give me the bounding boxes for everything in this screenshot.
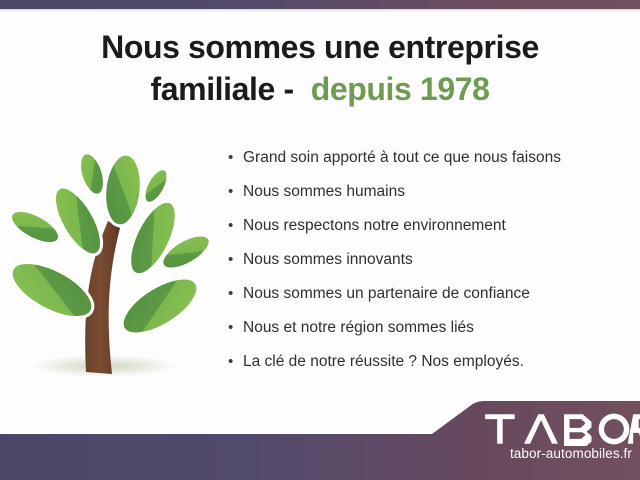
- leaf: [8, 251, 101, 329]
- list-item-label: Nous sommes innovants: [243, 252, 413, 268]
- tree-illustration: [8, 142, 213, 387]
- bullet-icon: •: [228, 286, 243, 301]
- brand-url[interactable]: tabor-automobiles.fr: [484, 447, 634, 461]
- heading-dash-glyph: -: [283, 71, 293, 107]
- bullet-icon: •: [228, 150, 243, 165]
- bullet-icon: •: [228, 218, 243, 233]
- list-item: • Nous sommes humains: [228, 184, 628, 218]
- tabor-wordmark: [484, 412, 640, 446]
- list-item-label: Grand soin apporté à tout ce que nous fa…: [243, 150, 561, 166]
- list-item: • Nous sommes un partenaire de confiance: [228, 286, 628, 320]
- heading-line-1: Nous sommes une entreprise: [0, 26, 640, 68]
- list-item-label: Nous et notre région sommes liés: [243, 320, 474, 336]
- list-item-label: Nous sommes un partenaire de confiance: [243, 286, 530, 302]
- leaf: [101, 152, 144, 227]
- brand-logo[interactable]: tabor-automobiles.fr: [484, 412, 634, 461]
- top-accent-bar-shadow: [0, 9, 640, 12]
- bullet-icon: •: [228, 184, 243, 199]
- heading-highlight: depuis 1978: [311, 71, 490, 107]
- heading-prefix: familiale: [150, 71, 274, 107]
- slide-canvas: Nous sommes une entreprise familiale - d…: [0, 0, 640, 480]
- slide-heading: Nous sommes une entreprise familiale - d…: [0, 26, 640, 110]
- bullet-icon: •: [228, 320, 243, 335]
- top-accent-bar: [0, 0, 640, 9]
- heading-gap: [294, 71, 311, 107]
- list-item: • Nous et notre région sommes liés: [228, 320, 628, 354]
- list-item: • Nous sommes innovants: [228, 252, 628, 286]
- list-item-label: Nous respectons notre environnement: [243, 218, 506, 234]
- list-item: • Grand soin apporté à tout ce que nous …: [228, 150, 628, 184]
- list-item-label: Nous sommes humains: [243, 184, 405, 200]
- bullet-list: • Grand soin apporté à tout ce que nous …: [228, 150, 628, 388]
- leaf: [113, 267, 206, 345]
- bullet-icon: •: [228, 354, 243, 369]
- bullet-icon: •: [228, 252, 243, 267]
- heading-line-2: familiale - depuis 1978: [0, 68, 640, 110]
- list-item: • La clé de notre réussite ? Nos employé…: [228, 354, 628, 388]
- list-item-label: La clé de notre réussite ? Nos employés.: [243, 354, 524, 370]
- list-item: • Nous respectons notre environnement: [228, 218, 628, 252]
